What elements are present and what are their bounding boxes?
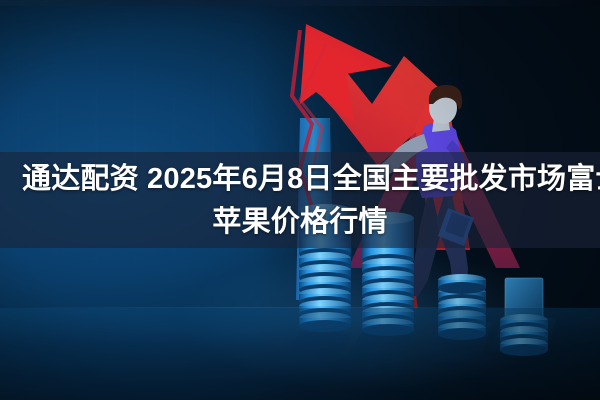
page-title: 通达配资 2025年6月8日全国主要批发市场富士 苹果价格行情 xyxy=(0,158,600,244)
banner-image: 通达配资 2025年6月8日全国主要批发市场富士 苹果价格行情 xyxy=(0,0,600,400)
headline-line-1: 通达配资 2025年6月8日全国主要批发市场富士 xyxy=(22,158,578,201)
headline-line-2: 苹果价格行情 xyxy=(22,201,578,244)
